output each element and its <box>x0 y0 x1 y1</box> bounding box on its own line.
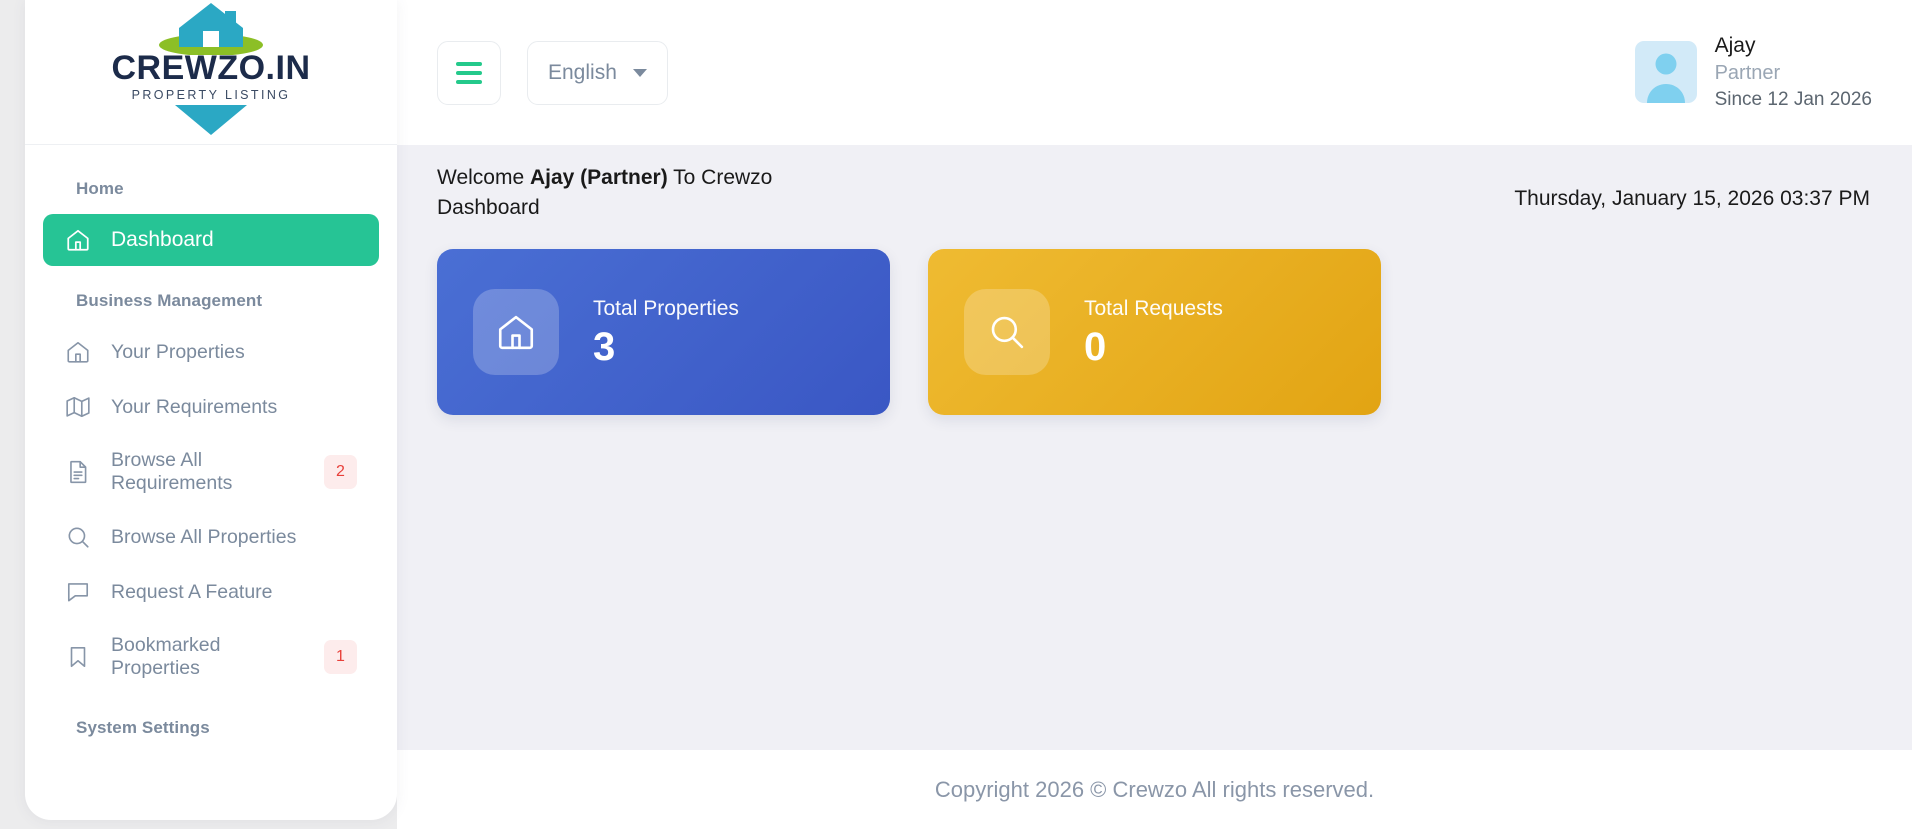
sidebar-item-dashboard[interactable]: Dashboard <box>43 214 379 266</box>
welcome-row: Welcome Ajay (Partner) To Crewzo Dashboa… <box>397 145 1912 223</box>
stat-card-value: 0 <box>1084 327 1223 367</box>
language-selector[interactable]: English <box>527 41 668 105</box>
user-name: Ajay <box>1715 32 1872 60</box>
stat-card-title: Total Properties <box>593 297 739 321</box>
stat-card-value: 3 <box>593 327 739 367</box>
hamburger-menu-icon[interactable] <box>437 41 501 105</box>
document-text-icon <box>65 459 91 485</box>
page-footer: Copyright 2026 © Crewzo All rights reser… <box>397 750 1912 829</box>
sidebar-item-bookmarked-properties[interactable]: Bookmarked Properties 1 <box>43 621 379 693</box>
home-icon <box>473 289 559 375</box>
sidebar-item-badge: 2 <box>324 455 357 489</box>
logo-wordmark: CREWZO.IN <box>111 51 310 87</box>
sidebar-section-system-settings: System Settings <box>43 696 379 750</box>
welcome-block: Welcome Ajay (Partner) To Crewzo Dashboa… <box>437 163 772 223</box>
stat-card-total-requests[interactable]: Total Requests 0 <box>928 249 1381 415</box>
hamburger-line <box>456 80 482 84</box>
map-icon <box>65 394 91 420</box>
sidebar-item-browse-all-requirements[interactable]: Browse All Requirements 2 <box>43 436 379 508</box>
sidebar-item-your-requirements[interactable]: Your Requirements <box>43 381 379 433</box>
house-icon <box>155 1 267 55</box>
stat-card-total-properties[interactable]: Total Properties 3 <box>437 249 890 415</box>
logo-tagline: PROPERTY LISTING <box>111 88 310 102</box>
current-datetime: Thursday, January 15, 2026 03:37 PM <box>1514 163 1870 211</box>
sidebar-item-label: Request A Feature <box>111 581 357 604</box>
sidebar-item-request-a-feature[interactable]: Request A Feature <box>43 566 379 618</box>
page-title: Dashboard <box>437 193 772 223</box>
sidebar-item-label: Your Properties <box>111 341 357 364</box>
sidebar-item-your-properties[interactable]: Your Properties <box>43 326 379 378</box>
sidebar-section-business-management: Business Management <box>43 269 379 323</box>
search-icon <box>65 524 91 550</box>
welcome-suffix: To Crewzo <box>668 166 773 189</box>
sidebar-logo[interactable]: CREWZO.IN PROPERTY LISTING <box>25 0 397 145</box>
search-icon <box>964 289 1050 375</box>
top-header: English Ajay Partner Since 12 Jan 2026 <box>397 0 1912 145</box>
chat-bubble-icon <box>65 579 91 605</box>
bookmark-icon <box>65 644 91 670</box>
hamburger-line <box>456 62 482 66</box>
chevron-down-icon <box>633 69 647 77</box>
welcome-username: Ajay (Partner) <box>530 166 668 189</box>
stat-cards: Total Properties 3 Total Requests 0 <box>397 223 1912 415</box>
home-icon <box>65 339 91 365</box>
user-avatar-icon <box>1635 41 1697 103</box>
welcome-prefix: Welcome <box>437 166 530 189</box>
sidebar-item-badge: 1 <box>324 640 357 674</box>
language-selector-value: English <box>548 61 617 85</box>
copyright-text: Copyright 2026 © Crewzo All rights reser… <box>935 777 1374 803</box>
user-role: Partner <box>1715 60 1872 87</box>
hamburger-line <box>456 71 482 75</box>
welcome-message: Welcome Ajay (Partner) To Crewzo <box>437 163 772 193</box>
app-root: CREWZO.IN PROPERTY LISTING Home Dashboar… <box>0 0 1912 829</box>
sidebar-nav: Home Dashboard Business Management <box>25 145 397 750</box>
avatar <box>1635 41 1697 103</box>
sidebar-item-label: Your Requirements <box>111 396 357 419</box>
sidebar-item-label: Dashboard <box>111 228 357 253</box>
user-since: Since 12 Jan 2026 <box>1715 87 1872 113</box>
user-profile[interactable]: Ajay Partner Since 12 Jan 2026 <box>1635 32 1872 113</box>
sidebar-item-label: Browse All Properties <box>111 526 357 549</box>
home-icon <box>65 227 91 253</box>
stat-card-title: Total Requests <box>1084 297 1223 321</box>
sidebar-section-home: Home <box>43 157 379 211</box>
sidebar: CREWZO.IN PROPERTY LISTING Home Dashboar… <box>25 0 397 820</box>
main-content: Welcome Ajay (Partner) To Crewzo Dashboa… <box>397 145 1912 750</box>
sidebar-item-browse-all-properties[interactable]: Browse All Properties <box>43 511 379 563</box>
triangle-down-icon <box>173 103 249 137</box>
sidebar-item-label: Bookmarked Properties <box>111 634 304 680</box>
sidebar-item-label: Browse All Requirements <box>111 449 304 495</box>
